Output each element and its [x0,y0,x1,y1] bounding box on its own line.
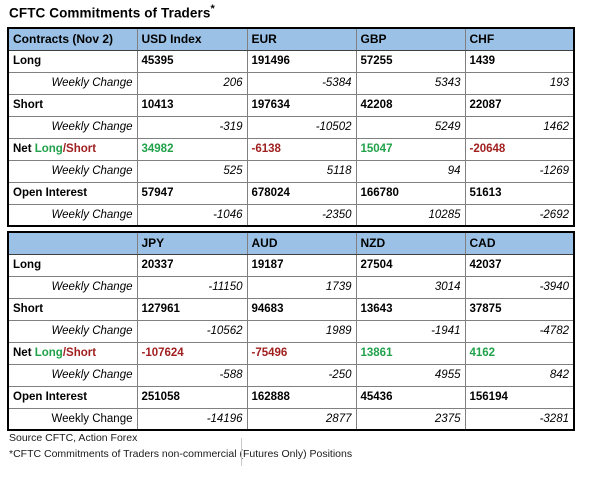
header-col-gbp: GBP [356,28,465,50]
row-label-long-weekly-change-block2: Weekly Change [8,276,137,298]
cell-net-jpy: -107624 [137,342,247,364]
cell-long-change-gbp: 5343 [356,72,465,94]
footnote-definition: *CFTC Commitments of Traders non-commerc… [9,446,352,462]
cell-short-change-aud: 1989 [247,320,356,342]
cell-short-eur: 197634 [247,94,356,116]
table-row-open-interest-block1: Open Interest 57947 678024 166780 51613 [8,182,574,204]
cell-short-nzd: 13643 [356,298,465,320]
cell-oi-usd-index: 57947 [137,182,247,204]
page-title-text: CFTC Commitments of Traders [9,6,210,21]
cell-short-jpy: 127961 [137,298,247,320]
row-label-oi-weekly-change: Weekly Change [8,204,137,226]
net-long-word: Long [35,143,63,155]
cell-oi-cad: 156194 [465,386,574,408]
cell-long-eur: 191496 [247,50,356,72]
cell-oi-change-eur: -2350 [247,204,356,226]
cell-oi-jpy: 251058 [137,386,247,408]
row-label-net-long-short: Net Long/Short [8,138,137,160]
footnote-source: Source CFTC, Action Forex [9,430,352,446]
cell-oi-change-gbp: 10285 [356,204,465,226]
cell-net-change-aud: -250 [247,364,356,386]
cell-long-change-aud: 1739 [247,276,356,298]
net-word-block2: Net [13,347,35,359]
row-label-short-weekly-change-block2: Weekly Change [8,320,137,342]
cell-oi-change-jpy: -14196 [137,408,247,430]
cell-net-chf: -20648 [465,138,574,160]
table-row-oi-weekly-change-block2: Weekly Change -14196 2877 2375 -3281 [8,408,574,430]
table-row-net-weekly-change-block2: Weekly Change -588 -250 4955 842 [8,364,574,386]
table-row-short-weekly-change-block1: Weekly Change -319 -10502 5249 1462 [8,116,574,138]
cell-net-change-eur: 5118 [247,160,356,182]
header-col-chf: CHF [465,28,574,50]
cell-short-change-cad: -4782 [465,320,574,342]
header-contracts-period: Contracts (Nov 2) [8,28,137,50]
cell-short-usd-index: 10413 [137,94,247,116]
page-title: CFTC Commitments of Traders* [9,3,215,21]
row-label-oi-weekly-change-block2: Weekly Change [8,408,137,430]
cell-oi-change-cad: -3281 [465,408,574,430]
cell-oi-gbp: 166780 [356,182,465,204]
cell-oi-change-usd-index: -1046 [137,204,247,226]
row-label-short-weekly-change: Weekly Change [8,116,137,138]
cell-long-change-nzd: 3014 [356,276,465,298]
cell-long-change-cad: -3940 [465,276,574,298]
cell-long-change-jpy: -11150 [137,276,247,298]
table-row-net-block2: Net Long/Short -107624 -75496 13861 4162 [8,342,574,364]
header-blank-block2 [8,232,137,254]
cell-long-chf: 1439 [465,50,574,72]
cell-net-change-chf: -1269 [465,160,574,182]
cell-net-change-cad: 842 [465,364,574,386]
cell-net-aud: -75496 [247,342,356,364]
row-label-long: Long [8,50,137,72]
header-col-cad: CAD [465,232,574,254]
table-row-long-block1: Long 45395 191496 57255 1439 [8,50,574,72]
cell-oi-aud: 162888 [247,386,356,408]
cell-long-change-chf: 193 [465,72,574,94]
cell-net-usd-index: 34982 [137,138,247,160]
table-row-short-block1: Short 10413 197634 42208 22087 [8,94,574,116]
row-label-short: Short [8,94,137,116]
cell-net-cad: 4162 [465,342,574,364]
cell-long-change-eur: -5384 [247,72,356,94]
cell-short-change-nzd: -1941 [356,320,465,342]
cell-short-change-chf: 1462 [465,116,574,138]
cell-short-aud: 94683 [247,298,356,320]
table-row-open-interest-block2: Open Interest 251058 162888 45436 156194 [8,386,574,408]
cell-net-change-jpy: -588 [137,364,247,386]
row-label-net-weekly-change: Weekly Change [8,160,137,182]
footnotes: Source CFTC, Action Forex *CFTC Commitme… [9,430,352,462]
cell-net-change-usd-index: 525 [137,160,247,182]
table-row-long-weekly-change-block1: Weekly Change 206 -5384 5343 193 [8,72,574,94]
cell-long-change-usd-index: 206 [137,72,247,94]
table-row-oi-weekly-change-block1: Weekly Change -1046 -2350 10285 -2692 [8,204,574,226]
row-label-long-block2: Long [8,254,137,276]
header-col-eur: EUR [247,28,356,50]
cell-oi-change-nzd: 2375 [356,408,465,430]
cell-short-gbp: 42208 [356,94,465,116]
cell-net-change-nzd: 4955 [356,364,465,386]
cell-net-change-gbp: 94 [356,160,465,182]
cell-long-cad: 42037 [465,254,574,276]
cell-oi-eur: 678024 [247,182,356,204]
cell-short-chf: 22087 [465,94,574,116]
cot-report-page: CFTC Commitments of Traders* Contracts (… [0,0,600,481]
cell-long-gbp: 57255 [356,50,465,72]
header-col-aud: AUD [247,232,356,254]
cot-data-table: Contracts (Nov 2) USD Index EUR GBP CHF … [7,27,575,431]
header-col-jpy: JPY [137,232,247,254]
text-cursor-caret [241,438,242,466]
table-row-net-weekly-change-block1: Weekly Change 525 5118 94 -1269 [8,160,574,182]
cell-net-nzd: 13861 [356,342,465,364]
table-row-long-weekly-change-block2: Weekly Change -11150 1739 3014 -3940 [8,276,574,298]
cell-short-change-eur: -10502 [247,116,356,138]
row-label-net-long-short-block2: Net Long/Short [8,342,137,364]
row-label-net-weekly-change-block2: Weekly Change [8,364,137,386]
table-header-row-block1: Contracts (Nov 2) USD Index EUR GBP CHF [8,28,574,50]
cell-net-gbp: 15047 [356,138,465,160]
cell-oi-change-aud: 2877 [247,408,356,430]
cell-oi-chf: 51613 [465,182,574,204]
cell-oi-nzd: 45436 [356,386,465,408]
table-row-short-block2: Short 127961 94683 13643 37875 [8,298,574,320]
header-col-nzd: NZD [356,232,465,254]
table-row-net-block1: Net Long/Short 34982 -6138 15047 -20648 [8,138,574,160]
cell-long-usd-index: 45395 [137,50,247,72]
row-label-open-interest-block2: Open Interest [8,386,137,408]
row-label-open-interest: Open Interest [8,182,137,204]
row-label-long-weekly-change: Weekly Change [8,72,137,94]
table-row-long-block2: Long 20337 19187 27504 42037 [8,254,574,276]
page-title-asterisk: * [210,3,214,15]
cell-long-jpy: 20337 [137,254,247,276]
net-short-word-block2: Short [66,347,96,359]
cell-short-cad: 37875 [465,298,574,320]
cell-short-change-jpy: -10562 [137,320,247,342]
table-row-short-weekly-change-block2: Weekly Change -10562 1989 -1941 -4782 [8,320,574,342]
cell-long-nzd: 27504 [356,254,465,276]
table-header-row-block2: JPY AUD NZD CAD [8,232,574,254]
cell-short-change-gbp: 5249 [356,116,465,138]
net-short-word: Short [66,143,96,155]
cell-long-aud: 19187 [247,254,356,276]
cell-net-eur: -6138 [247,138,356,160]
header-col-usd-index: USD Index [137,28,247,50]
cell-oi-change-chf: -2692 [465,204,574,226]
net-long-word-block2: Long [35,347,63,359]
net-word: Net [13,143,35,155]
row-label-short-block2: Short [8,298,137,320]
cell-short-change-usd-index: -319 [137,116,247,138]
